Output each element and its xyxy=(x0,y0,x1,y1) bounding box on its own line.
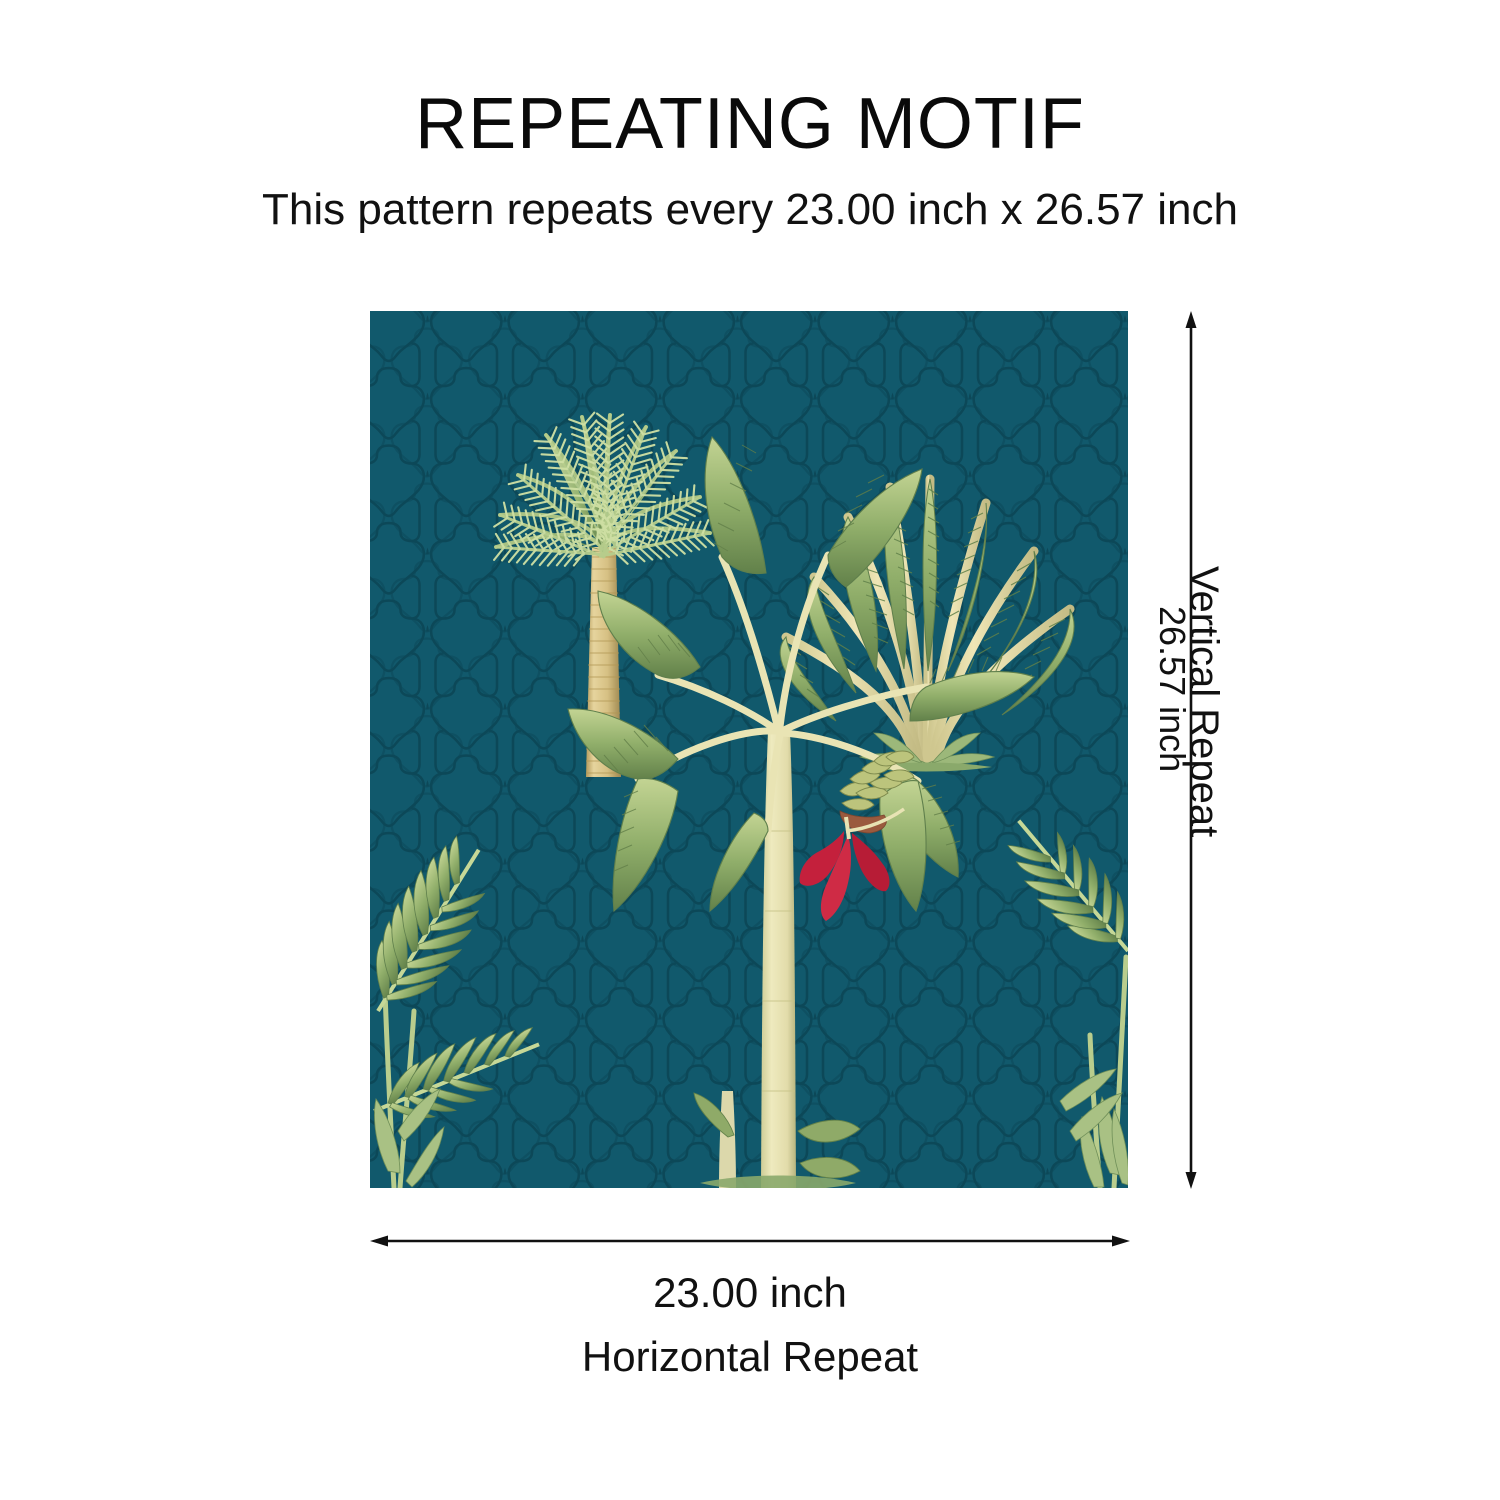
page-title: REPEATING MOTIF xyxy=(0,88,1500,160)
horizontal-repeat-value: 23.00 inch xyxy=(370,1272,1130,1314)
motif-areca-palm-left xyxy=(370,829,550,1188)
vertical-repeat-value: 26.57 inch xyxy=(1148,606,1196,906)
motif-travelers-palm xyxy=(780,479,1074,772)
horizontal-repeat-label: Horizontal Repeat xyxy=(370,1336,1130,1378)
motif-areca-palm-right xyxy=(991,800,1128,1188)
wallpaper-swatch[interactable] xyxy=(370,311,1128,1188)
botanical-motifs xyxy=(370,311,1128,1188)
page-subtitle: This pattern repeats every 23.00 inch x … xyxy=(0,188,1500,232)
motif-preview-page: REPEATING MOTIF This pattern repeats eve… xyxy=(0,0,1500,1500)
horizontal-repeat-arrow xyxy=(370,1232,1130,1250)
